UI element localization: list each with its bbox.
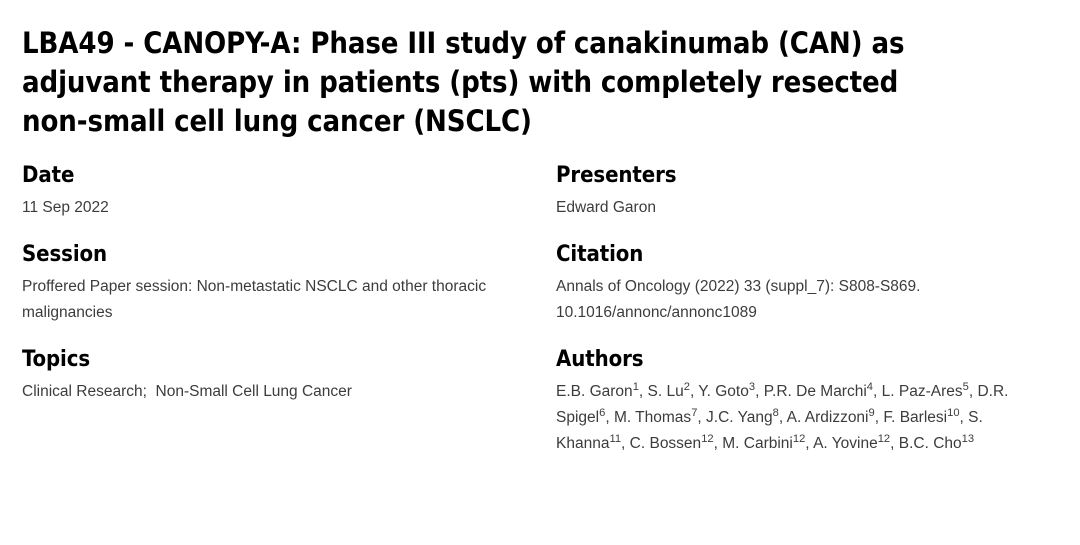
author-separator: , — [714, 435, 723, 452]
author-separator: , — [779, 409, 787, 426]
author-name: F. Barlesi — [883, 409, 947, 426]
authors-label: Authors — [556, 348, 1056, 372]
author-name: A. Ardizzoni — [787, 409, 869, 426]
author-name: S. Lu — [648, 383, 684, 400]
citation-value: Annals of Oncology (2022) 33 (suppl_7): … — [556, 274, 1056, 326]
topics-label: Topics — [22, 348, 538, 372]
author-separator: , — [639, 383, 648, 400]
author-name: P.R. De Marchi — [764, 383, 867, 400]
author-name: A. Yovine — [813, 435, 878, 452]
field-date: Date 11 Sep 2022 — [22, 164, 538, 221]
author-separator: , — [755, 383, 764, 400]
author-affiliation-marker: 12 — [701, 433, 713, 445]
citation-label: Citation — [556, 243, 1056, 267]
author-separator: , — [605, 409, 614, 426]
author-name: M. Thomas — [614, 409, 691, 426]
author-affiliation-marker: 10 — [947, 407, 959, 419]
details-right-column: Presenters Edward Garon Citation Annals … — [556, 164, 1056, 457]
author-name: L. Paz-Ares — [882, 383, 963, 400]
author-separator: , — [873, 383, 882, 400]
author-affiliation-marker: 12 — [793, 433, 805, 445]
author-affiliation-marker: 13 — [962, 433, 974, 445]
session-value: Proffered Paper session: Non-metastatic … — [22, 274, 538, 326]
session-label: Session — [22, 243, 538, 267]
date-value: 11 Sep 2022 — [22, 195, 538, 221]
presenters-value: Edward Garon — [556, 195, 1056, 221]
author-name: B.C. Cho — [899, 435, 962, 452]
author-separator: , — [890, 435, 899, 452]
author-separator: , — [960, 409, 969, 426]
author-separator: , — [805, 435, 813, 452]
field-session: Session Proffered Paper session: Non-met… — [22, 243, 538, 326]
author-affiliation-marker: 12 — [878, 433, 890, 445]
author-name: Y. Goto — [698, 383, 749, 400]
field-presenters: Presenters Edward Garon — [556, 164, 1056, 221]
field-topics: Topics Clinical Research; Non-Small Cell… — [22, 348, 538, 405]
topics-value: Clinical Research; Non-Small Cell Lung C… — [22, 379, 538, 405]
authors-value: E.B. Garon1, S. Lu2, Y. Goto3, P.R. De M… — [556, 379, 1026, 457]
page-title: LBA49 - CANOPY-A: Phase III study of can… — [22, 0, 967, 141]
author-separator: , — [697, 409, 706, 426]
author-affiliation-marker: 11 — [609, 433, 621, 445]
author-name: J.C. Yang — [706, 409, 773, 426]
record-details-columns: Date 11 Sep 2022 Session Proffered Paper… — [22, 164, 1058, 457]
field-citation: Citation Annals of Oncology (2022) 33 (s… — [556, 243, 1056, 326]
author-name: C. Bossen — [630, 435, 702, 452]
presenters-label: Presenters — [556, 164, 1056, 188]
date-label: Date — [22, 164, 538, 188]
field-authors: Authors E.B. Garon1, S. Lu2, Y. Goto3, P… — [556, 348, 1056, 457]
details-left-column: Date 11 Sep 2022 Session Proffered Paper… — [22, 164, 556, 405]
author-separator: , — [621, 435, 630, 452]
author-name: E.B. Garon — [556, 383, 633, 400]
abstract-record-page: LBA49 - CANOPY-A: Phase III study of can… — [0, 0, 1080, 545]
author-name: M. Carbini — [722, 435, 793, 452]
